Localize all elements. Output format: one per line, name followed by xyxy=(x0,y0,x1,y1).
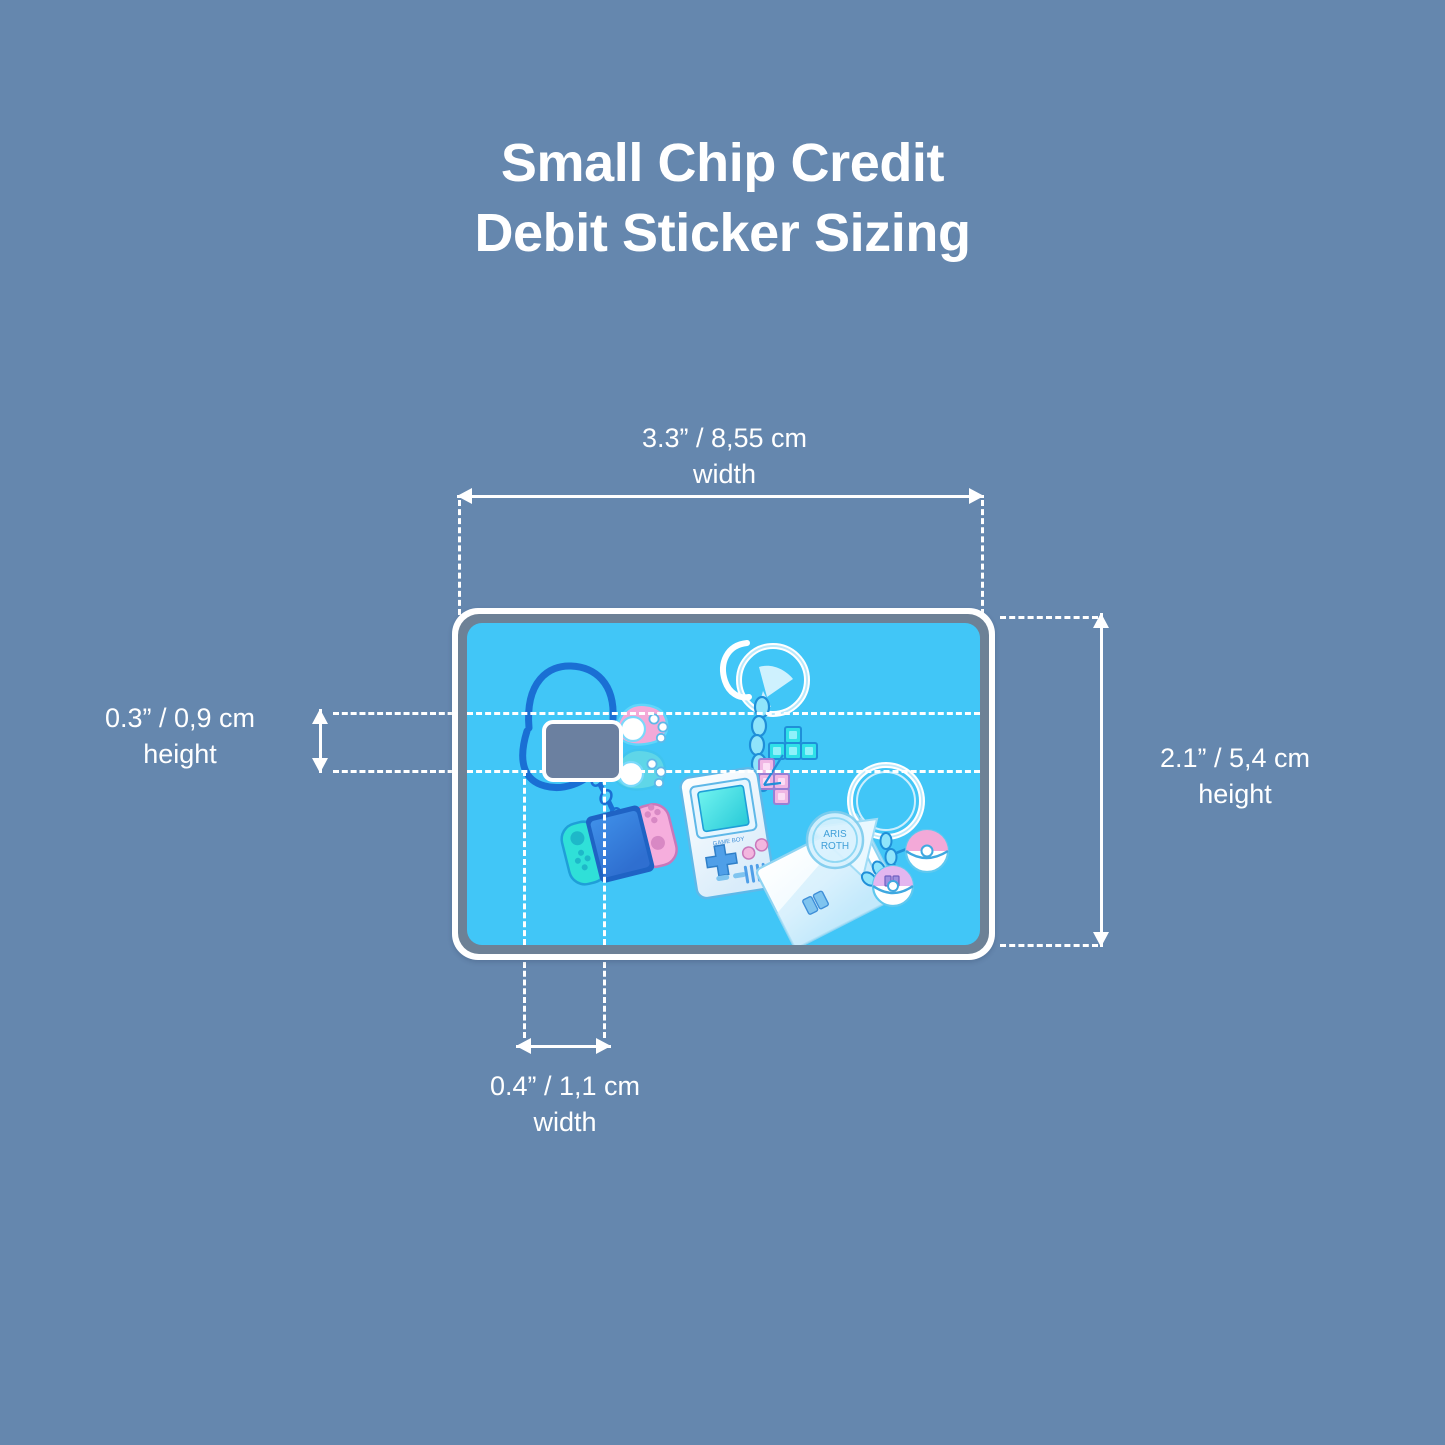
card-width-arrow-bar xyxy=(457,495,984,498)
card-face: GAME BOY xyxy=(467,623,980,945)
chip-width-value: 0.4” / 1,1 cm xyxy=(490,1071,640,1101)
pokeball-charm-blue xyxy=(873,866,913,906)
card-height-extension-top xyxy=(1000,616,1098,619)
card-width-arrow xyxy=(457,487,984,505)
card-height-arrow-head-bottom xyxy=(1093,932,1109,947)
card-width-extension-right xyxy=(981,500,984,615)
chip-height-guide-top xyxy=(467,712,980,715)
chip-height-axis: height xyxy=(60,736,300,772)
card-width-value: 3.3” / 8,55 cm xyxy=(642,423,807,453)
chip-height-arrow xyxy=(311,709,329,773)
card-width-label: 3.3” / 8,55 cm width xyxy=(527,420,922,493)
card-width-extension-left xyxy=(458,500,461,615)
tetris-block-cyan xyxy=(769,727,817,759)
page-title: Small Chip Credit Debit Sticker Sizing xyxy=(0,128,1445,268)
page-title-line-1: Small Chip Credit xyxy=(0,128,1445,198)
chip-height-arrow-head-bottom xyxy=(312,758,328,773)
chip-width-guide-left xyxy=(523,770,526,945)
card-height-axis: height xyxy=(1110,776,1360,812)
sticker-card[interactable]: GAME BOY xyxy=(452,608,995,960)
card-height-value: 2.1” / 5,4 cm xyxy=(1160,743,1310,773)
cat-paw-charm-pink xyxy=(616,705,668,745)
logo-line-1: ARIS xyxy=(823,829,847,840)
chip-height-value: 0.3” / 0,9 cm xyxy=(105,703,255,733)
chip-width-axis: width xyxy=(445,1104,685,1140)
card-height-arrow-head-top xyxy=(1093,613,1109,628)
card-height-extension-bottom xyxy=(1000,944,1098,947)
card-height-label: 2.1” / 5,4 cm height xyxy=(1110,740,1360,813)
chip-width-arrow-head-right xyxy=(596,1038,611,1054)
pokeball-charm-pink xyxy=(906,830,948,872)
chip-height-arrow-head-top xyxy=(312,709,328,724)
page-title-line-2: Debit Sticker Sizing xyxy=(0,198,1445,268)
chip-width-label: 0.4” / 1,1 cm width xyxy=(445,1068,685,1141)
chip-width-extension-right xyxy=(603,962,606,1038)
chip-height-label: 0.3” / 0,9 cm height xyxy=(60,700,300,773)
card-height-arrow-bar xyxy=(1100,613,1103,947)
chip-width-arrow xyxy=(516,1037,611,1055)
chip-width-guide-right xyxy=(603,770,606,945)
card-artwork: GAME BOY xyxy=(467,623,980,945)
logo-line-2: ROTH xyxy=(821,841,849,852)
card-chip[interactable] xyxy=(542,720,623,782)
card-height-arrow xyxy=(1092,613,1110,947)
chip-width-arrow-head-left xyxy=(516,1038,531,1054)
tetris-block-pink xyxy=(759,759,789,804)
sizing-diagram: Small Chip Credit Debit Sticker Sizing 3… xyxy=(0,0,1445,1445)
chip-width-extension-left xyxy=(523,962,526,1038)
nintendo-switch-console xyxy=(558,798,681,891)
